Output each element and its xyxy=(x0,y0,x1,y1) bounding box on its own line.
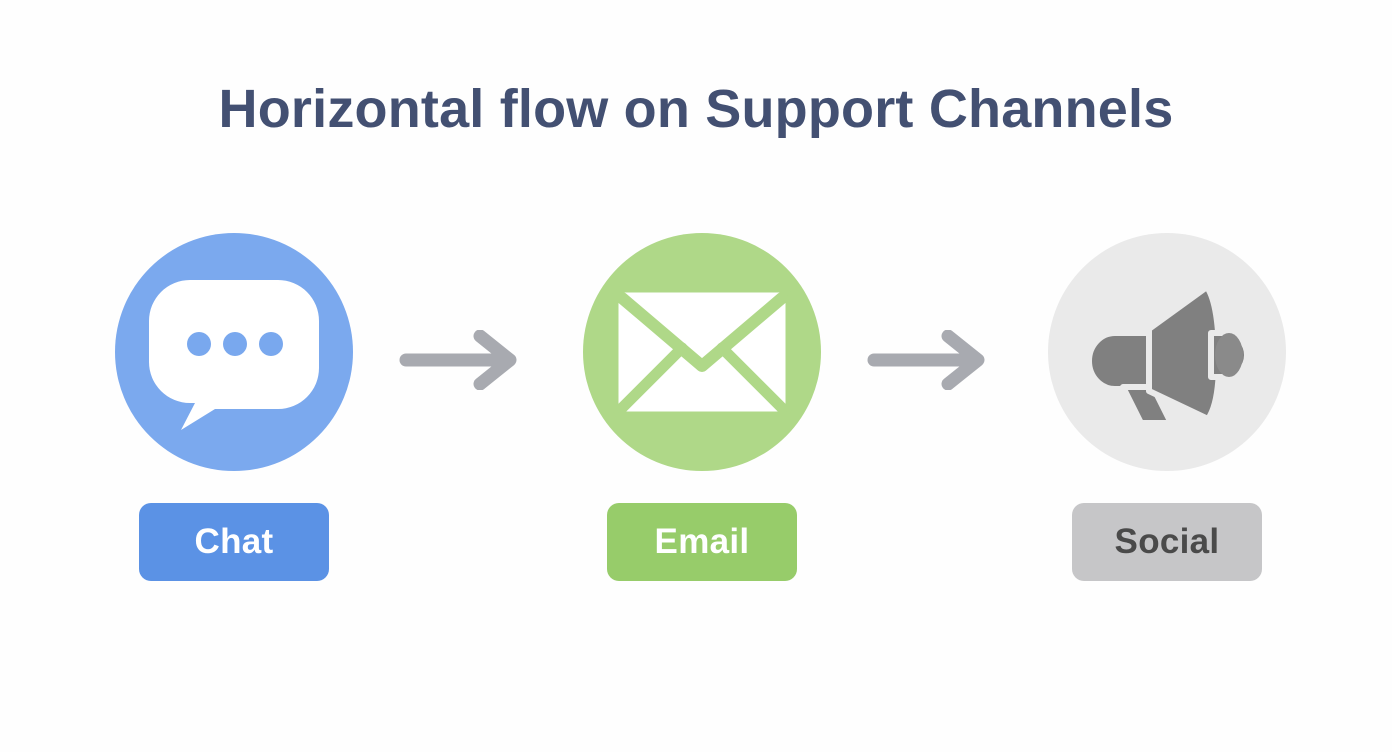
chat-icon-circle[interactable] xyxy=(115,233,353,471)
diagram-canvas: Horizontal flow on Support Channels Chat xyxy=(0,0,1392,752)
flow-node-social[interactable]: Social xyxy=(1048,233,1286,578)
chat-bubble-icon xyxy=(149,272,319,432)
social-icon-circle[interactable] xyxy=(1048,233,1286,471)
megaphone-icon xyxy=(1079,277,1255,427)
envelope-icon xyxy=(612,286,792,418)
flow-node-chat[interactable]: Chat xyxy=(115,233,353,578)
page-title: Horizontal flow on Support Channels xyxy=(0,78,1392,140)
arrow-email-to-social xyxy=(866,330,996,390)
flow-node-label-chat[interactable]: Chat xyxy=(139,503,329,581)
email-icon-circle[interactable] xyxy=(583,233,821,471)
arrow-chat-to-email xyxy=(398,330,528,390)
flow-node-label-social[interactable]: Social xyxy=(1072,503,1262,581)
flow-node-email[interactable]: Email xyxy=(583,233,821,578)
flow-node-label-email[interactable]: Email xyxy=(607,503,797,581)
